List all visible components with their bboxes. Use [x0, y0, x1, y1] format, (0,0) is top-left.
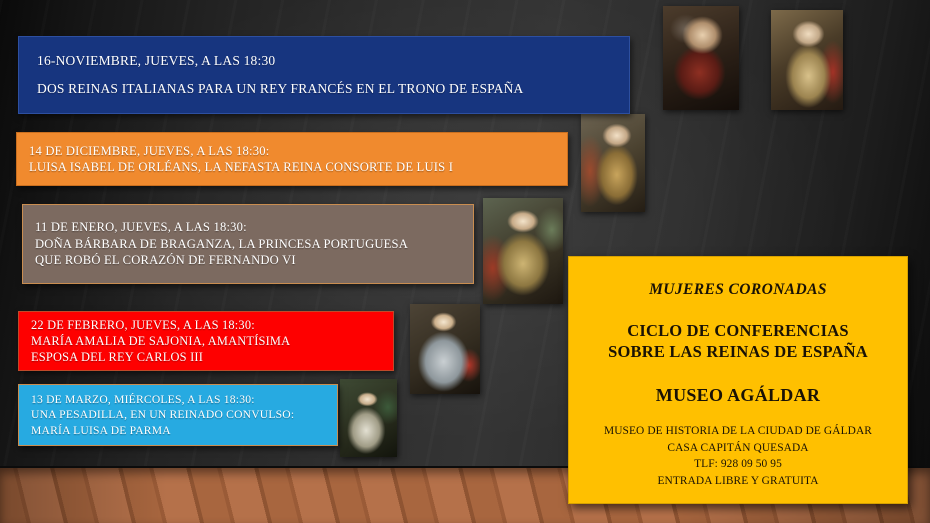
- painting-queen-barbara-de-braganza: [483, 198, 563, 304]
- painting-figure: [483, 198, 563, 304]
- painting-queen-isabel-de-farnesio: [771, 10, 843, 110]
- venue-details: MUSEO DE HISTORIA DE LA CIUDAD DE GÁLDAR…: [581, 423, 895, 489]
- conference-banner-marzo: 13 DE MARZO, MIÉRCOLES, A LAS 18:30: UNA…: [18, 384, 338, 446]
- conference-date: 16-NOVIEMBRE, JUEVES, A LAS 18:30: [37, 52, 619, 70]
- painting-queen-maria-luisa-de-parma: [340, 379, 397, 457]
- painting-queen-maria-amalia-de-sajonia: [410, 304, 480, 394]
- conference-banner-noviembre: 16-NOVIEMBRE, JUEVES, A LAS 18:30 DOS RE…: [18, 36, 630, 114]
- painting-figure: [340, 379, 397, 457]
- painting-figure: [663, 6, 739, 110]
- conference-title-line: LUISA ISABEL DE ORLÉANS, LA NEFASTA REIN…: [29, 159, 557, 175]
- poster-title-line1: CICLO DE CONFERENCIAS: [627, 321, 848, 340]
- painting-figure: [410, 304, 480, 394]
- poster-title-line2: SOBRE LAS REINAS DE ESPAÑA: [608, 342, 868, 361]
- conference-title-line: DOS REINAS ITALIANAS PARA UN REY FRANCÉS…: [37, 80, 619, 98]
- painting-queen-luisa-isabel-de-orleans: [581, 114, 645, 212]
- venue-address: MUSEO DE HISTORIA DE LA CIUDAD DE GÁLDAR: [581, 423, 895, 440]
- conference-title-line: ESPOSA DEL REY CARLOS III: [31, 349, 383, 365]
- poster-title: CICLO DE CONFERENCIAS SOBRE LAS REINAS D…: [581, 321, 895, 362]
- conference-title-line: MARÍA AMALIA DE SAJONIA, AMANTÍSIMA: [31, 333, 383, 349]
- venue-building: CASA CAPITÁN QUESADA: [581, 440, 895, 457]
- conference-title-line: QUE ROBÓ EL CORAZÓN DE FERNANDO VI: [35, 252, 463, 268]
- conference-title-line: UNA PESADILLA, EN UN REINADO CONVULSO:: [31, 407, 327, 422]
- conference-banner-febrero: 22 DE FEBRERO, JUEVES, A LAS 18:30: MARÍ…: [18, 311, 394, 371]
- conference-banner-diciembre: 14 DE DICIEMBRE, JUEVES, A LAS 18:30: LU…: [16, 132, 568, 186]
- conference-date: 14 DE DICIEMBRE, JUEVES, A LAS 18:30:: [29, 143, 557, 159]
- conference-date: 22 DE FEBRERO, JUEVES, A LAS 18:30:: [31, 317, 383, 333]
- conference-date: 13 DE MARZO, MIÉRCOLES, A LAS 18:30:: [31, 392, 327, 407]
- painting-queen-maria-luisa-de-saboya: [663, 6, 739, 110]
- poster-subtitle: MUJERES CORONADAS: [581, 281, 895, 299]
- venue-admission: ENTRADA LIBRE Y GRATUITA: [581, 473, 895, 490]
- venue-phone: TLF: 928 09 50 95: [581, 456, 895, 473]
- conference-date: 11 DE ENERO, JUEVES, A LAS 18:30:: [35, 219, 463, 235]
- info-panel: MUJERES CORONADAS CICLO DE CONFERENCIAS …: [568, 256, 908, 504]
- painting-figure: [581, 114, 645, 212]
- conference-banner-enero: 11 DE ENERO, JUEVES, A LAS 18:30: DOÑA B…: [22, 204, 474, 284]
- conference-title-line: DOÑA BÁRBARA DE BRAGANZA, LA PRINCESA PO…: [35, 236, 463, 252]
- conference-poster: 16-NOVIEMBRE, JUEVES, A LAS 18:30 DOS RE…: [0, 0, 930, 523]
- painting-figure: [771, 10, 843, 110]
- conference-title-line: MARÍA LUISA DE PARMA: [31, 423, 327, 438]
- museum-name: MUSEO AGÁLDAR: [581, 385, 895, 406]
